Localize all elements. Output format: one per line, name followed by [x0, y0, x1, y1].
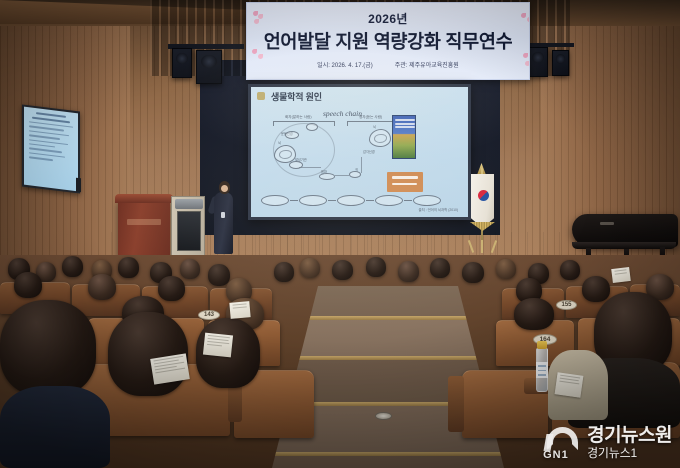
gn1-logo-icon: GN1	[543, 427, 583, 459]
projection-screen: 생물학적 원인 speech chain 화자(말하는 사람) 청자(듣는 사람…	[251, 87, 468, 217]
chain-step-2	[299, 195, 327, 206]
flag-stand	[470, 240, 494, 253]
audience-head-foreground	[0, 300, 96, 396]
banner-host: 주관: 제주유아교육진흥원	[395, 60, 459, 69]
banner-year: 2026년	[368, 13, 408, 26]
chain-step-arrow-2	[328, 200, 336, 201]
brain-illustration-right	[369, 129, 391, 147]
chain-step-4	[375, 195, 403, 206]
label-brain-right: 뇌	[373, 124, 376, 129]
brace-left-label: 화자(말하는 사람)	[285, 115, 312, 120]
chain-step-1	[261, 195, 289, 206]
presenter-lanyard-badge	[221, 212, 225, 218]
blossom-icon	[527, 17, 530, 22]
handout-paper	[150, 353, 190, 384]
audience-head	[88, 274, 116, 300]
book-title-lines	[395, 119, 415, 130]
chain-node-head	[306, 123, 318, 131]
banner-date: 일시: 2026. 4. 17.(금)	[317, 60, 373, 69]
watermark-main-title: 경기뉴스원	[587, 426, 672, 446]
seat-armrest	[448, 376, 464, 432]
handout-paper	[555, 372, 584, 397]
audience-head	[496, 259, 516, 279]
side-wall-monitor	[22, 104, 80, 193]
side-monitor-content	[24, 107, 78, 192]
blossom-icon	[252, 49, 257, 54]
presenter-body	[214, 192, 233, 254]
side-monitor-stand	[76, 178, 81, 193]
handout-paper	[229, 301, 250, 319]
audience-head	[560, 260, 580, 280]
water-bottle-label	[536, 362, 548, 378]
speaker-right-2	[552, 50, 569, 76]
piano-brand-badge	[600, 222, 614, 225]
audience-head	[14, 272, 42, 298]
av-equipment-rack	[171, 196, 205, 258]
audience-head	[300, 258, 320, 278]
audience-head	[180, 259, 200, 279]
book-cover-image	[392, 115, 416, 159]
slide-source-note: 출처 : 언어의 뇌과학 (2010)	[419, 207, 458, 212]
slide-bullet-icon	[257, 92, 265, 100]
brace-right-label: 청자(듣는 사람)	[359, 115, 382, 120]
audience-head	[430, 258, 450, 278]
projection-screen-frame: 생물학적 원인 speech chain 화자(말하는 사람) 청자(듣는 사람…	[248, 84, 471, 220]
lighting-truss-right	[524, 43, 574, 47]
taeguk-symbol-icon	[478, 190, 489, 201]
lectern	[118, 199, 170, 257]
aisle-floor-light	[375, 412, 392, 420]
audience-head	[118, 257, 139, 278]
audience-head	[514, 298, 554, 330]
chain-connector-2	[335, 175, 349, 176]
audience-shoulders-foreground	[0, 386, 110, 468]
audience-head	[332, 260, 353, 280]
banner-subtitle: 일시: 2026. 4. 17.(금) 주관: 제주유아교육진흥원	[317, 60, 459, 69]
chain-step-arrow-3	[366, 200, 374, 201]
lectern-top	[115, 194, 173, 203]
lectern-nameplate	[127, 219, 161, 225]
korean-flag	[471, 174, 494, 228]
chain-connector-1	[299, 167, 321, 168]
aisle-step-nosing-4	[272, 452, 504, 456]
photo-scene: 2026년 언어발달 지원 역량강화 직무연수 일시: 2026. 4. 17.…	[0, 0, 680, 468]
blossom-icon	[254, 19, 259, 24]
watermark-subtitle: 경기뉴스1	[587, 447, 672, 460]
audience-head	[62, 256, 83, 277]
slide-callout-box	[387, 172, 423, 192]
handout-paper	[611, 267, 631, 283]
speaker-left	[172, 48, 192, 78]
chain-step-arrow-4	[404, 200, 412, 201]
audience-head	[208, 264, 230, 286]
chain-step-5	[413, 195, 441, 206]
chain-node-wave	[319, 173, 335, 180]
label-sensory-nerves: 감각신경	[363, 149, 375, 154]
water-bottle-cap-icon	[537, 341, 547, 349]
audience-head	[398, 261, 419, 282]
blossom-icon	[521, 13, 526, 18]
audience-head	[158, 276, 185, 301]
handout-paper	[203, 333, 233, 358]
audience-head	[366, 257, 386, 277]
rack-monitor	[177, 211, 201, 251]
audience-head	[274, 262, 294, 282]
blossom-icon	[523, 53, 528, 58]
chain-connector-3	[361, 157, 362, 173]
chain-step-3	[337, 195, 365, 206]
rack-top-device	[175, 199, 203, 209]
logo-wordmark: GN1	[543, 449, 569, 461]
blossom-icon	[525, 61, 530, 66]
slide-heading: 생물학적 원인	[271, 90, 322, 103]
blossom-icon	[258, 54, 263, 59]
banner-title: 언어발달 지원 역량강화 직무연수	[264, 28, 513, 54]
watermark-text: 경기뉴스원 경기뉴스1	[587, 426, 672, 460]
event-banner: 2026년 언어발달 지원 역량강화 직무연수 일시: 2026. 4. 17.…	[246, 2, 530, 80]
presenter-face	[221, 185, 228, 192]
news-watermark: GN1 경기뉴스원 경기뉴스1	[543, 426, 672, 460]
audience-head	[582, 276, 610, 302]
chain-node-mouth	[285, 131, 299, 139]
chain-node-ear	[349, 171, 361, 178]
seat-number-plate: 155	[556, 300, 577, 310]
audience-head	[462, 262, 484, 283]
chain-loop	[273, 123, 335, 177]
slide-diagram-title: speech chain	[323, 109, 362, 118]
speaker-left-2	[196, 50, 222, 84]
speaker-right	[528, 47, 548, 77]
chain-step-arrow-1	[290, 200, 298, 201]
